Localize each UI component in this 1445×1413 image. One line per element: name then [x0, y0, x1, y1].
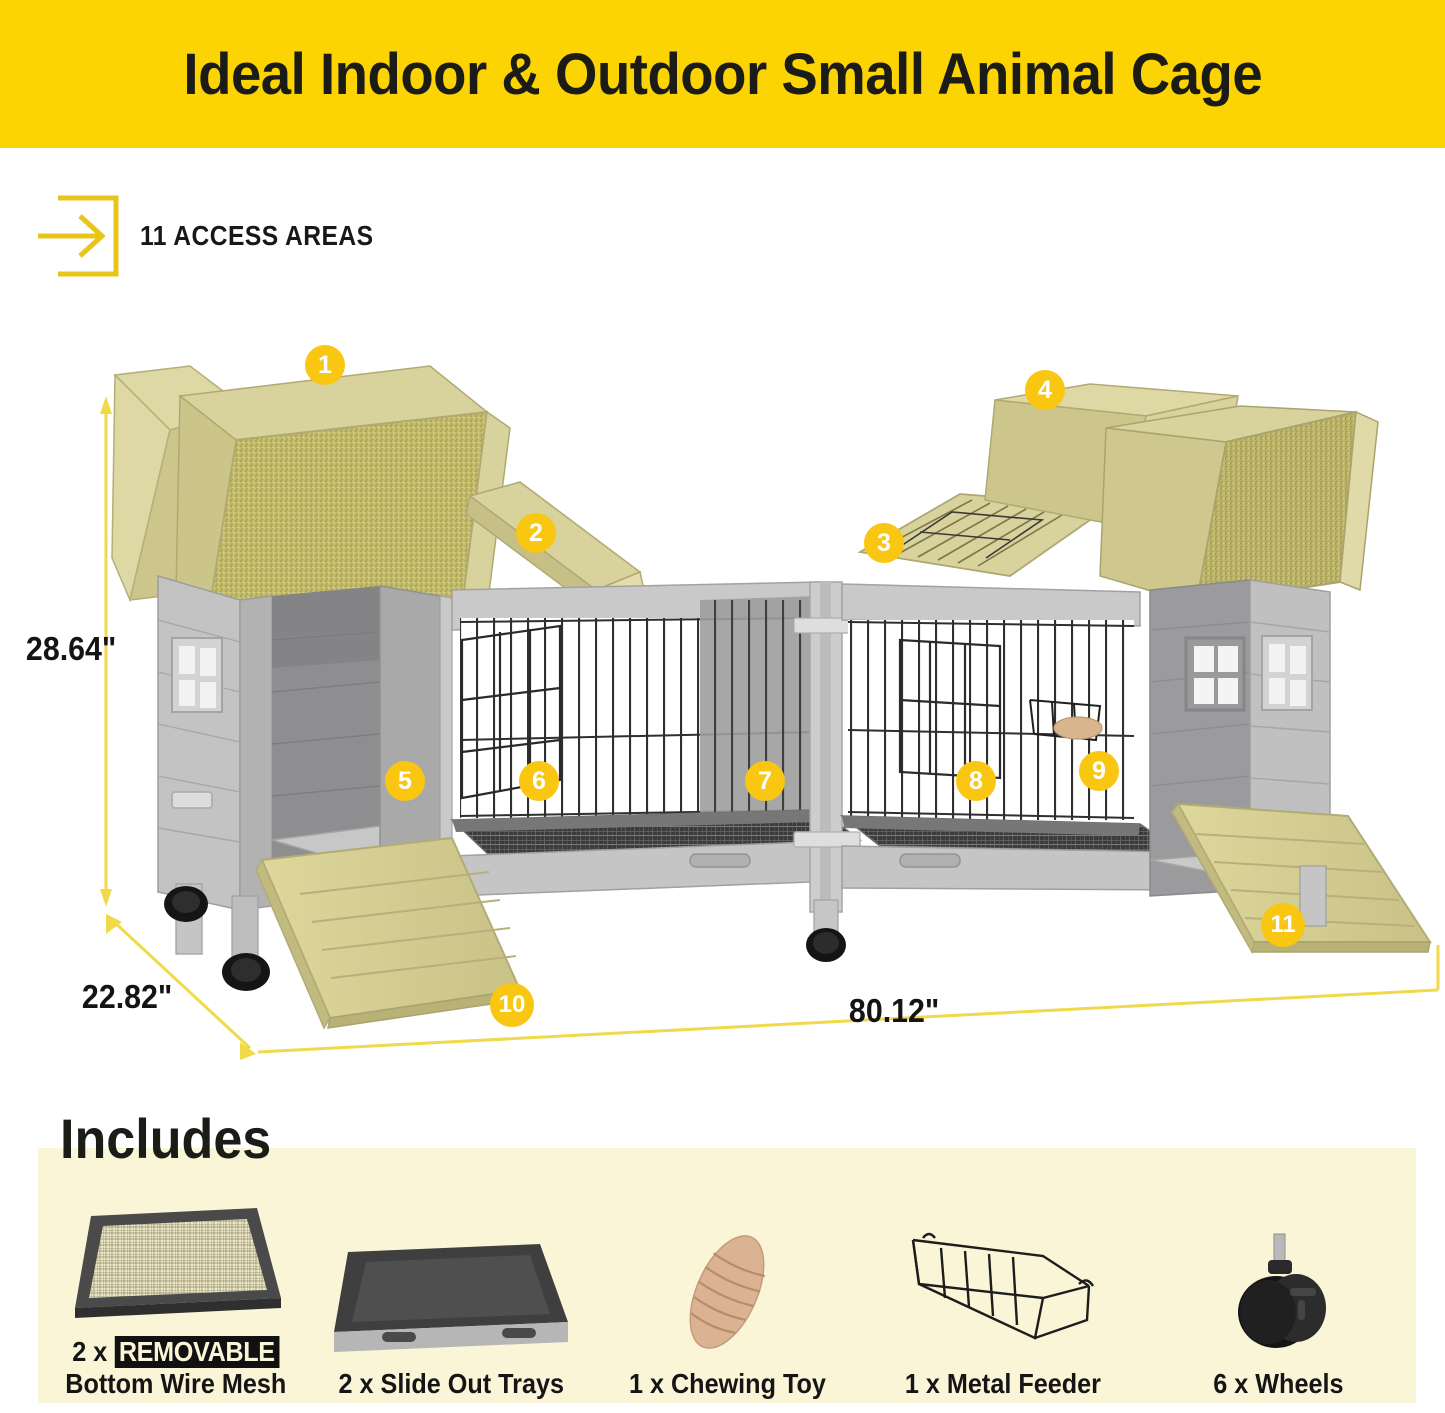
include-caption-metal-feeder: 1 x Metal Feeder	[905, 1368, 1101, 1399]
access-areas-row: 11 ACCESS AREAS	[38, 194, 405, 278]
dimension-width: 80.12"	[849, 992, 939, 1030]
chewing-toy-icon	[647, 1226, 807, 1358]
callout-badge-1[interactable]: 1	[305, 345, 345, 385]
include-caption-wheels: 6 x Wheels	[1213, 1368, 1343, 1399]
header-banner: Ideal Indoor & Outdoor Small Animal Cage	[0, 0, 1445, 148]
include-caption-chewing-toy: 1 x Chewing Toy	[629, 1368, 826, 1399]
callout-badge-9[interactable]: 9	[1079, 751, 1119, 791]
callout-badge-11[interactable]: 11	[1261, 903, 1305, 947]
access-areas-label: 11 ACCESS AREAS	[140, 220, 373, 252]
callout-badge-5[interactable]: 5	[385, 761, 425, 801]
caster-wheel-icon	[1198, 1226, 1358, 1358]
include-highlight: REMOVABLE	[114, 1336, 279, 1367]
page-title: Ideal Indoor & Outdoor Small Animal Cage	[183, 41, 1262, 108]
right-roof-main	[1100, 406, 1378, 604]
callout-badge-2[interactable]: 2	[516, 513, 556, 553]
callout-badge-6[interactable]: 6	[519, 761, 559, 801]
include-item-wire-mesh: 2 x REMOVABLE Bottom Wire Mesh	[38, 1175, 314, 1405]
dimension-depth: 22.82"	[82, 978, 172, 1016]
include-caption-slide-out-tray: 2 x Slide Out Trays	[339, 1368, 565, 1399]
includes-grid: 2 x REMOVABLE Bottom Wire Mesh 2 x Slide…	[38, 1175, 1416, 1405]
hutch-drawing	[0, 300, 1445, 1100]
callout-badge-7[interactable]: 7	[745, 761, 785, 801]
callout-badge-3[interactable]: 3	[864, 523, 904, 563]
wire-mesh-panel-icon	[61, 1194, 291, 1326]
includes-title: Includes	[60, 1106, 271, 1171]
product-illustration: 1 2 3 4 5 6 7 8 9 10 11	[0, 300, 1445, 1100]
include-item-metal-feeder: 1 x Metal Feeder	[865, 1175, 1141, 1405]
callout-badge-8[interactable]: 8	[956, 761, 996, 801]
include-item-slide-out-tray: 2 x Slide Out Trays	[314, 1175, 590, 1405]
callout-badge-4[interactable]: 4	[1025, 370, 1065, 410]
dimension-height: 28.64"	[26, 630, 116, 668]
include-item-chewing-toy: 1 x Chewing Toy	[589, 1175, 865, 1405]
enter-arrow-icon	[38, 194, 120, 278]
include-caption-wire-mesh: 2 x REMOVABLE Bottom Wire Mesh	[65, 1336, 286, 1399]
callout-badge-10[interactable]: 10	[490, 983, 534, 1027]
include-item-wheels: 6 x Wheels	[1140, 1175, 1416, 1405]
metal-feeder-icon	[883, 1226, 1123, 1358]
right-window	[1186, 638, 1244, 710]
include-line2: Bottom Wire Mesh	[65, 1368, 286, 1399]
left-window	[172, 638, 222, 712]
slide-out-tray-icon	[326, 1226, 576, 1358]
include-qty: 2 x	[72, 1336, 107, 1367]
right-run	[842, 584, 1180, 890]
